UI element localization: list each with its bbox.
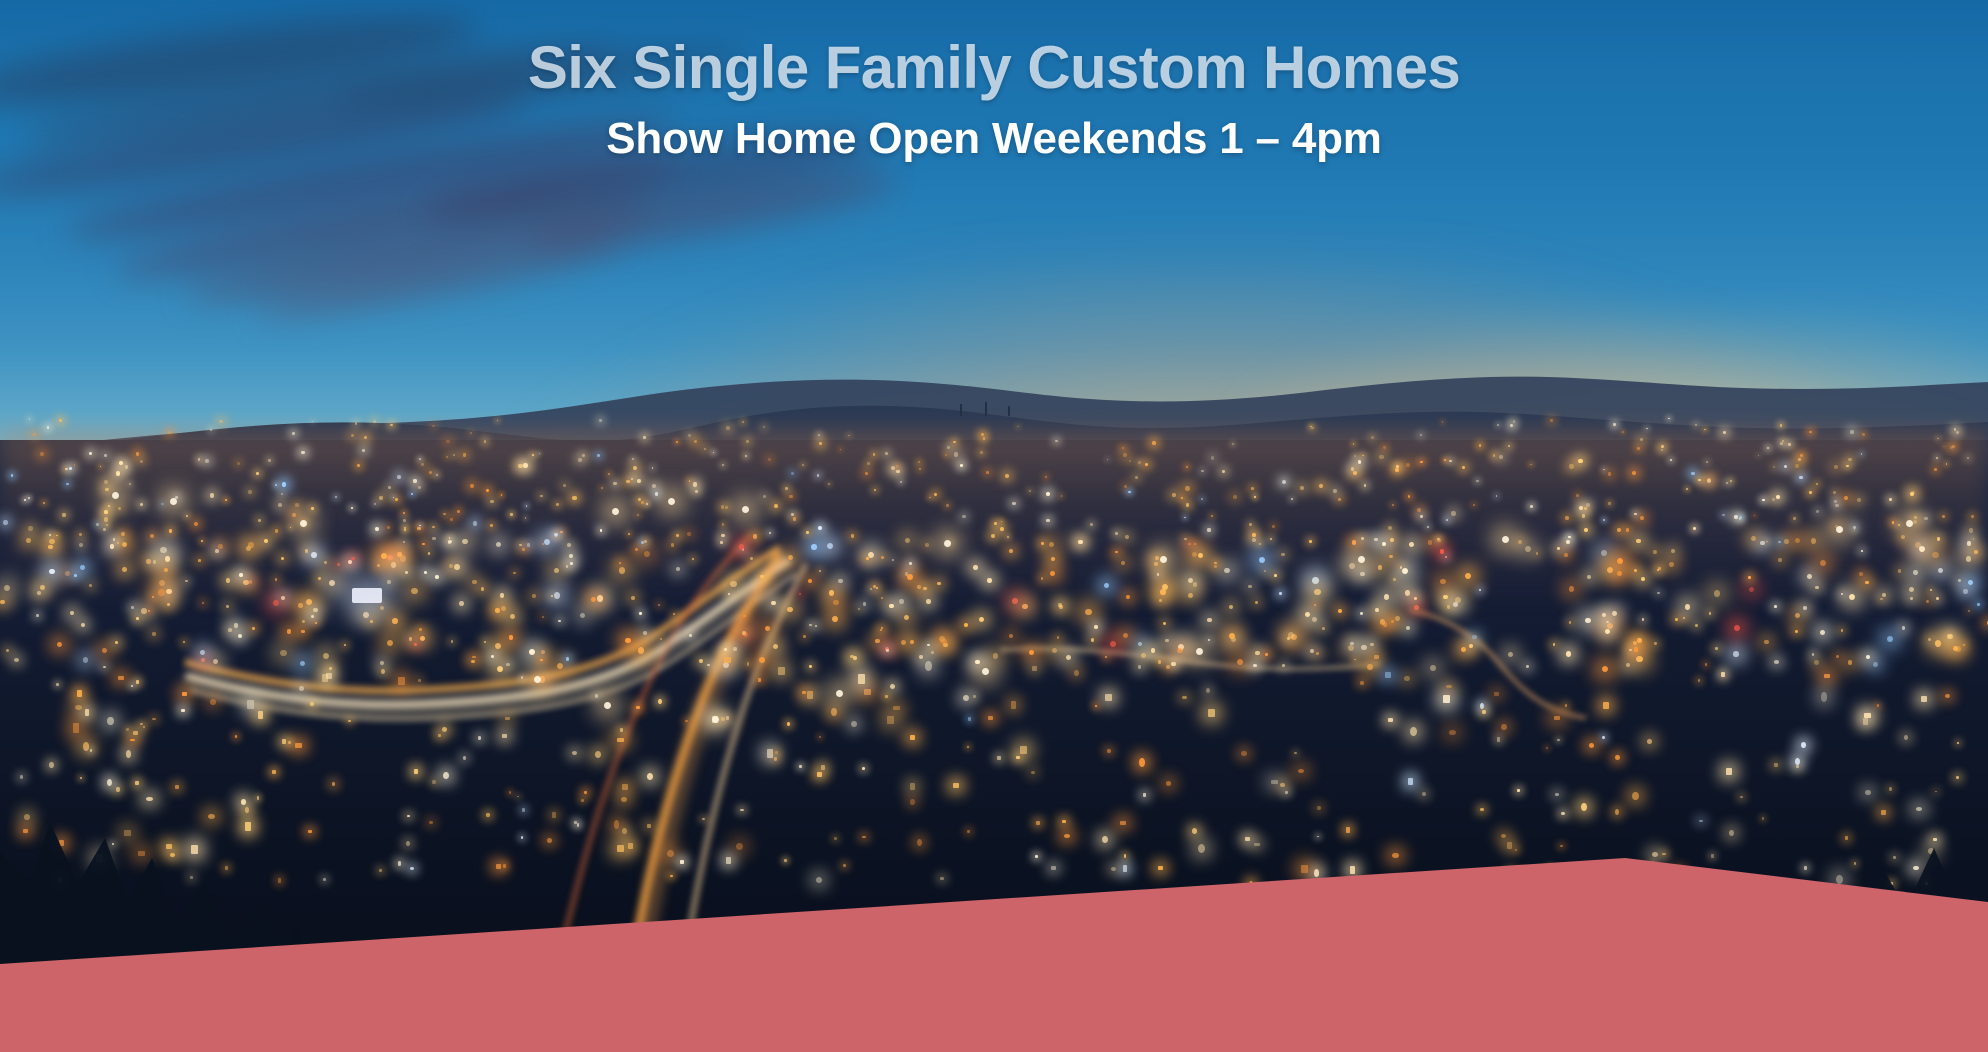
- city-light: [215, 549, 219, 553]
- city-light: [742, 548, 744, 550]
- city-light: [891, 466, 895, 470]
- hillside-light: [1809, 431, 1812, 434]
- hillside-light: [1937, 438, 1939, 440]
- city-light: [1953, 646, 1958, 651]
- city-light: [1124, 485, 1127, 488]
- hillside-light: [1211, 456, 1214, 459]
- city-light: [1360, 612, 1363, 615]
- city-light: [1857, 498, 1861, 502]
- city-light: [542, 543, 544, 545]
- city-light: [1803, 606, 1807, 610]
- city-light: [1853, 526, 1856, 529]
- city-light: [1607, 567, 1613, 573]
- city-light: [1279, 592, 1282, 595]
- city-light: [641, 541, 644, 544]
- city-light: [1312, 577, 1318, 583]
- accent-roofline-shape: [0, 852, 1988, 1052]
- city-light: [1396, 465, 1399, 468]
- city-light: [1248, 585, 1252, 589]
- city-light: [1617, 528, 1621, 532]
- city-light: [927, 644, 930, 647]
- banner-text-block: Six Single Family Custom Homes Show Home…: [0, 34, 1988, 165]
- city-light: [937, 582, 941, 586]
- hillside-light: [210, 429, 212, 431]
- city-light: [148, 610, 150, 612]
- hillside-light: [539, 453, 540, 454]
- city-light: [311, 615, 314, 618]
- city-light: [818, 526, 822, 530]
- city-light: [311, 507, 314, 510]
- city-light: [1669, 562, 1674, 567]
- city-light: [273, 600, 279, 606]
- city-light: [1078, 540, 1082, 544]
- city-light: [1188, 593, 1193, 598]
- city-light: [1834, 465, 1838, 469]
- city-light: [363, 612, 369, 618]
- city-light: [769, 532, 772, 535]
- city-light: [484, 641, 486, 643]
- city-light: [892, 559, 894, 561]
- city-light: [560, 531, 563, 534]
- city-light: [1041, 542, 1044, 545]
- city-light: [728, 593, 730, 595]
- city-light: [639, 612, 641, 614]
- city-light: [1288, 632, 1294, 638]
- city-light: [268, 459, 271, 462]
- city-light: [1406, 626, 1410, 630]
- hillside-light: [219, 420, 222, 423]
- hillside-light: [484, 440, 487, 443]
- city-light: [739, 544, 744, 549]
- city-light: [829, 590, 834, 595]
- city-light: [851, 534, 854, 537]
- city-light: [1799, 476, 1803, 480]
- city-light: [397, 475, 401, 479]
- city-light: [1338, 609, 1342, 613]
- city-light: [1930, 589, 1932, 591]
- city-light: [619, 562, 622, 565]
- city-light: [1214, 562, 1216, 564]
- city-light: [1123, 633, 1128, 638]
- city-light: [409, 637, 413, 641]
- city-light: [1734, 625, 1740, 631]
- city-light: [637, 479, 641, 483]
- city-light: [1637, 638, 1642, 643]
- city-light: [37, 591, 41, 595]
- city-light: [57, 642, 62, 647]
- city-light: [979, 617, 984, 622]
- city-light: [1695, 624, 1698, 627]
- city-light: [1361, 537, 1365, 541]
- city-light: [943, 643, 948, 648]
- city-light: [1841, 593, 1843, 595]
- city-light: [1353, 471, 1357, 475]
- city-light: [803, 635, 806, 638]
- city-light: [885, 452, 888, 455]
- city-light: [730, 581, 736, 587]
- city-light: [1714, 590, 1720, 596]
- hillside-light: [742, 421, 744, 423]
- city-light: [1192, 552, 1198, 558]
- city-light: [1913, 520, 1917, 524]
- city-light: [1440, 579, 1445, 584]
- hillside-light: [470, 432, 472, 434]
- city-light: [1314, 604, 1316, 606]
- hillside-light: [1186, 466, 1188, 468]
- city-light: [311, 552, 317, 558]
- city-light: [1184, 538, 1187, 541]
- city-light: [463, 453, 466, 456]
- city-light: [388, 486, 391, 489]
- city-light: [201, 540, 203, 542]
- city-light: [1338, 498, 1342, 502]
- hillside-light: [351, 434, 354, 437]
- city-light: [838, 579, 843, 584]
- hillside-light: [446, 440, 450, 444]
- hillside-light: [168, 431, 171, 434]
- city-light: [315, 622, 317, 624]
- city-light: [601, 487, 603, 489]
- city-light: [1255, 601, 1258, 604]
- hillside-light: [1122, 447, 1124, 449]
- city-light: [282, 482, 286, 486]
- city-light: [404, 529, 406, 531]
- hillside-light: [980, 451, 983, 454]
- city-light: [949, 541, 952, 544]
- hillside-light: [643, 436, 646, 439]
- city-light: [392, 618, 397, 623]
- city-light: [375, 527, 379, 531]
- city-light: [791, 513, 794, 516]
- city-light: [313, 608, 318, 613]
- city-light: [1861, 453, 1863, 455]
- city-light: [1693, 527, 1696, 530]
- city-light: [1406, 463, 1410, 467]
- city-light: [625, 638, 631, 644]
- city-light: [991, 534, 995, 538]
- city-light: [1445, 556, 1447, 558]
- city-light: [248, 542, 253, 547]
- city-light: [635, 548, 638, 551]
- city-light: [1444, 459, 1446, 461]
- hillside-light: [1661, 445, 1664, 448]
- city-light: [907, 574, 913, 580]
- city-light: [1391, 620, 1394, 623]
- city-light: [1833, 491, 1836, 494]
- city-light: [1634, 513, 1636, 515]
- city-light: [496, 542, 501, 547]
- city-light: [1942, 515, 1945, 518]
- hillside-light: [1723, 431, 1726, 434]
- city-light: [1966, 556, 1972, 562]
- city-light: [1476, 480, 1478, 482]
- hillside-light: [198, 458, 201, 461]
- city-light: [1603, 519, 1605, 521]
- city-light: [1351, 467, 1355, 471]
- city-light: [417, 527, 420, 530]
- city-light: [428, 552, 430, 554]
- city-light: [141, 608, 147, 614]
- city-light: [1748, 576, 1751, 579]
- city-light: [140, 460, 144, 464]
- city-light: [198, 559, 201, 562]
- city-light: [1686, 488, 1688, 490]
- city-light: [81, 623, 85, 627]
- street-lamp-glow: [742, 506, 749, 513]
- hillside-light: [1637, 447, 1639, 449]
- city-light: [1911, 491, 1915, 495]
- city-light: [1414, 597, 1417, 600]
- city-light: [1657, 569, 1659, 571]
- city-light: [1601, 550, 1607, 556]
- city-light: [104, 480, 108, 484]
- city-light: [1774, 605, 1777, 608]
- city-light: [1576, 494, 1579, 497]
- city-light: [802, 464, 804, 466]
- hillside-light: [1780, 442, 1783, 445]
- city-light: [1880, 598, 1882, 600]
- city-light: [1249, 523, 1252, 526]
- city-light: [1740, 516, 1742, 518]
- city-light: [129, 483, 131, 485]
- city-light: [660, 638, 662, 640]
- city-light: [631, 596, 635, 600]
- city-light: [1390, 538, 1394, 542]
- hillside-light: [840, 449, 841, 450]
- city-light: [457, 510, 460, 513]
- city-light: [1469, 644, 1473, 648]
- city-light: [1586, 503, 1590, 507]
- city-light: [420, 636, 425, 641]
- city-light: [1675, 618, 1678, 621]
- hillside-light: [1952, 445, 1955, 448]
- city-light: [693, 482, 697, 486]
- city-light: [558, 620, 560, 622]
- city-light: [1603, 469, 1605, 471]
- city-light: [387, 526, 390, 529]
- hillside-light: [1353, 443, 1355, 445]
- city-light: [183, 641, 185, 643]
- city-light: [806, 531, 809, 534]
- city-light: [451, 640, 453, 642]
- city-light: [70, 611, 75, 616]
- city-light: [917, 585, 921, 589]
- city-light: [1000, 527, 1004, 531]
- city-light: [551, 595, 553, 597]
- city-light: [303, 521, 306, 524]
- city-light: [799, 593, 801, 595]
- city-light: [1889, 498, 1892, 501]
- city-light: [448, 541, 451, 544]
- city-light: [1123, 453, 1127, 457]
- city-light: [1389, 555, 1393, 559]
- city-light: [828, 483, 830, 485]
- city-light: [652, 467, 654, 469]
- city-light: [1579, 506, 1583, 510]
- city-light: [1375, 608, 1379, 612]
- hillside-light: [676, 441, 677, 442]
- city-light: [905, 538, 910, 543]
- city-light: [1208, 639, 1210, 641]
- city-light: [400, 555, 406, 561]
- city-light: [925, 543, 929, 547]
- city-light: [655, 492, 658, 495]
- city-light: [1045, 476, 1047, 478]
- city-light: [1178, 644, 1184, 650]
- city-light: [11, 474, 14, 477]
- city-light: [116, 471, 120, 475]
- hillside-light: [47, 426, 49, 428]
- city-light: [833, 600, 838, 605]
- city-light: [643, 631, 647, 635]
- hillside-light: [301, 451, 305, 455]
- city-light: [1352, 540, 1356, 544]
- city-light: [110, 544, 114, 548]
- city-light: [453, 454, 455, 456]
- city-light: [750, 557, 753, 560]
- hillside-light: [74, 464, 76, 466]
- hillside-light: [1695, 424, 1697, 426]
- city-light: [1751, 536, 1756, 541]
- city-light: [1135, 476, 1138, 479]
- city-light: [166, 589, 171, 594]
- city-light: [1409, 542, 1414, 547]
- city-light: [1138, 642, 1143, 647]
- city-light: [495, 643, 501, 649]
- hillside-light: [818, 434, 820, 436]
- city-light: [570, 562, 573, 565]
- city-light: [1041, 577, 1043, 579]
- city-light: [1057, 636, 1060, 639]
- street-lamp-glow: [1836, 526, 1843, 533]
- city-light: [258, 519, 261, 522]
- city-light: [811, 544, 816, 549]
- city-light: [118, 507, 121, 510]
- hillside-light: [1758, 455, 1759, 456]
- city-light: [275, 529, 279, 533]
- city-light: [1617, 571, 1622, 576]
- city-light: [1584, 507, 1587, 510]
- city-light: [1333, 489, 1337, 493]
- street-lamp-glow: [1502, 536, 1509, 543]
- hillside-light: [1550, 419, 1553, 422]
- city-light: [1887, 636, 1893, 642]
- city-light: [302, 620, 305, 623]
- hillside-light: [1773, 466, 1776, 469]
- city-light: [225, 499, 227, 501]
- city-light: [1934, 468, 1937, 471]
- city-light: [566, 565, 569, 568]
- hillside-light: [953, 441, 955, 443]
- city-light: [24, 499, 26, 501]
- city-light: [1578, 459, 1582, 463]
- city-light: [1427, 526, 1429, 528]
- city-light: [673, 613, 675, 615]
- city-light: [1762, 499, 1765, 502]
- city-light: [49, 534, 51, 536]
- city-light: [234, 623, 238, 627]
- city-light: [1193, 582, 1198, 587]
- city-light: [527, 543, 531, 547]
- city-light: [1049, 542, 1054, 547]
- hillside-light: [292, 432, 295, 435]
- city-light: [644, 540, 647, 543]
- city-light: [1654, 642, 1656, 644]
- hillside-light: [1442, 421, 1443, 422]
- city-light: [1283, 481, 1285, 483]
- city-light: [404, 527, 406, 529]
- city-light: [1632, 471, 1636, 475]
- city-light: [934, 493, 937, 496]
- city-light: [443, 513, 445, 515]
- city-light: [1670, 459, 1672, 461]
- city-light: [500, 593, 505, 598]
- hillside-light: [237, 462, 240, 465]
- city-light: [791, 472, 794, 475]
- city-light: [414, 643, 417, 646]
- city-light: [381, 553, 387, 559]
- city-light: [1776, 495, 1780, 499]
- city-light: [509, 635, 513, 639]
- hillside-light: [1107, 459, 1108, 460]
- city-light: [1915, 542, 1921, 548]
- city-light: [1395, 468, 1399, 472]
- street-lamp-glow: [1906, 520, 1913, 527]
- hillside-light: [390, 424, 393, 427]
- city-light: [1730, 480, 1732, 482]
- city-light: [1449, 460, 1452, 463]
- city-light: [1926, 600, 1929, 603]
- city-light: [554, 568, 559, 573]
- street-lamp-glow: [612, 508, 619, 515]
- city-light: [1653, 550, 1657, 554]
- city-light: [1809, 491, 1812, 494]
- hillside-light: [1950, 446, 1953, 449]
- city-light: [1437, 538, 1439, 540]
- city-light: [1566, 540, 1570, 544]
- city-light: [1798, 458, 1801, 461]
- hillside-light: [704, 448, 707, 451]
- city-light: [1657, 592, 1659, 594]
- city-light: [901, 640, 907, 646]
- city-light: [1370, 643, 1373, 646]
- city-light: [0, 600, 4, 604]
- city-light: [510, 614, 515, 619]
- hillside-light: [694, 440, 698, 444]
- city-light: [69, 467, 72, 470]
- city-light: [1587, 575, 1591, 579]
- city-light: [1379, 455, 1383, 459]
- hillside-light: [981, 433, 984, 436]
- city-light: [532, 454, 534, 456]
- city-light: [1059, 605, 1063, 609]
- city-light: [1569, 621, 1572, 624]
- city-light: [817, 474, 819, 476]
- city-light: [519, 544, 522, 547]
- city-light: [395, 498, 398, 501]
- city-light: [1309, 540, 1312, 543]
- hillside-light: [745, 455, 747, 457]
- city-light: [1046, 519, 1050, 523]
- city-light: [1378, 565, 1382, 569]
- city-light: [1233, 495, 1237, 499]
- city-light: [275, 484, 277, 486]
- hillside-light: [364, 436, 367, 439]
- city-light: [1584, 528, 1588, 532]
- hillside-light: [1383, 446, 1385, 448]
- city-light: [1658, 567, 1661, 570]
- city-light: [239, 573, 243, 577]
